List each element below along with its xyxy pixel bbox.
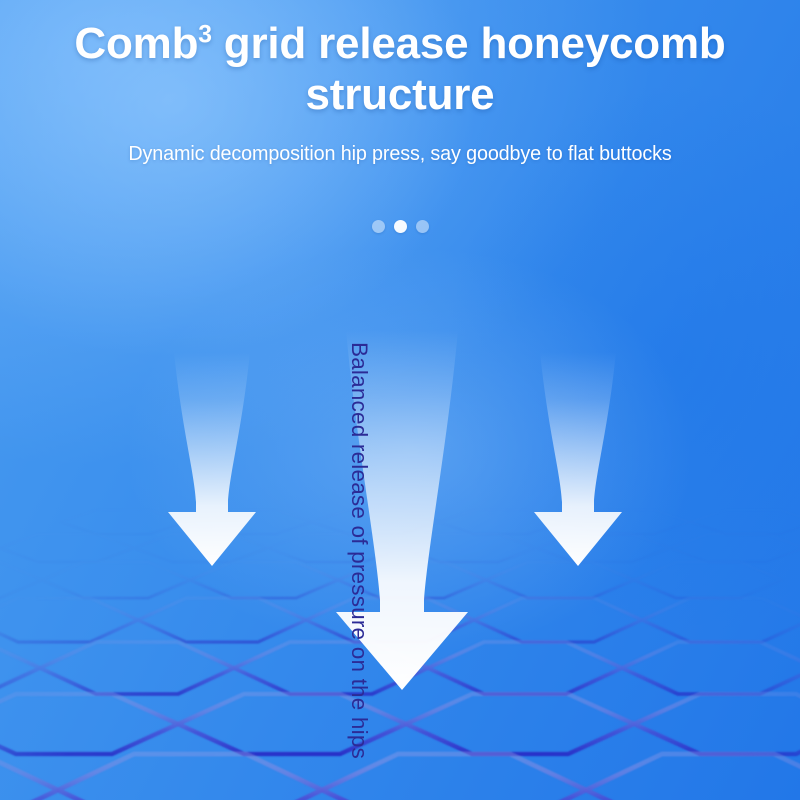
- title-superscript: 3: [198, 21, 212, 48]
- carousel-dot-2[interactable]: [394, 220, 407, 233]
- carousel-dots[interactable]: [0, 220, 800, 233]
- title-rest: grid release honeycomb structure: [212, 19, 726, 119]
- balanced-release-caption: Balanced release of pressure on the hips: [346, 342, 372, 759]
- honeycomb-floor: [0, 500, 800, 800]
- carousel-dot-1[interactable]: [372, 220, 385, 233]
- carousel-dot-3[interactable]: [416, 220, 429, 233]
- page-title: Comb3 grid release honeycomb structure: [0, 0, 800, 120]
- poster-header: Comb3 grid release honeycomb structure D…: [0, 0, 800, 166]
- promo-poster: Balanced release of pressure on the hips…: [0, 0, 800, 800]
- page-subtitle: Dynamic decomposition hip press, say goo…: [14, 142, 786, 166]
- title-prefix: Comb: [74, 19, 198, 68]
